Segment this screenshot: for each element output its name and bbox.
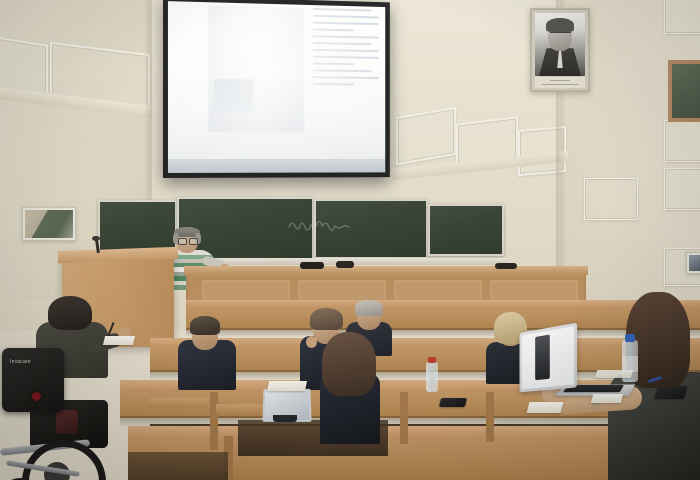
- bench-underside: [128, 452, 228, 480]
- bench-leg: [210, 392, 218, 450]
- portrait-photo: [535, 13, 585, 76]
- wheelchair-control-knob[interactable]: [32, 392, 41, 401]
- microphone-head-icon: [92, 236, 100, 241]
- desk-object: [300, 262, 324, 269]
- smartphone[interactable]: [654, 386, 688, 399]
- student-hair: [310, 308, 343, 330]
- wall-molding-panel: [664, 168, 700, 210]
- laptop[interactable]: [516, 328, 626, 404]
- student-hair: [190, 316, 220, 335]
- laptop-screen: [522, 326, 574, 389]
- notebook-left: [103, 336, 135, 345]
- bench-leg: [486, 392, 494, 442]
- wall-molding-panel: [584, 178, 638, 220]
- bench-seat: [150, 398, 208, 408]
- student-long-hair-center: [318, 332, 382, 442]
- portrait-glasses-icon: [550, 32, 571, 37]
- chalk-writing: [287, 216, 357, 232]
- student-hair: [355, 300, 383, 316]
- water-bottle-cap: [428, 357, 436, 363]
- portrait-caption-plaque: [535, 77, 585, 88]
- notebook-right: [591, 394, 623, 403]
- projector-glow: [168, 1, 385, 173]
- papers: [595, 370, 634, 378]
- wheelchair-brand-label: Invacare: [10, 358, 44, 365]
- water-bottle-cap: [625, 334, 635, 342]
- wall-photo-far-right-image: [689, 255, 700, 271]
- slide: [168, 1, 385, 173]
- wall-molding-panel: [664, 0, 700, 34]
- lecture-hall-photo: Invacare: [0, 0, 700, 480]
- wheelchair-cushion: [56, 410, 78, 434]
- laptop-lid: [519, 323, 577, 393]
- screen-bottom-bar: [168, 159, 385, 173]
- framed-portrait: [530, 8, 590, 92]
- student-hand: [306, 336, 317, 348]
- chalkboard-panel-4: [428, 204, 504, 256]
- wall-photo-left-image: [25, 210, 73, 238]
- student-wheelchair-hair: [48, 296, 92, 330]
- tablet[interactable]: [263, 388, 309, 422]
- bench-leg: [400, 392, 408, 444]
- student-dark-suit-left: [178, 314, 238, 388]
- portrait-hair: [546, 18, 574, 32]
- wall-photo-left: [22, 207, 76, 241]
- student-hair: [322, 332, 376, 396]
- smartphone[interactable]: [439, 398, 467, 407]
- laptop-screen-image: [535, 335, 550, 380]
- wall-molding-panel: [664, 120, 700, 162]
- wall-photo-far-right: [686, 252, 700, 274]
- notebook-front-right: [527, 402, 564, 413]
- tablet-stand: [273, 415, 297, 422]
- wheelchair-backrest: Invacare: [2, 348, 64, 412]
- water-bottle: [426, 362, 438, 392]
- desk-object: [495, 263, 517, 269]
- projection-screen: [163, 0, 390, 178]
- desk-object: [336, 261, 354, 268]
- front-desk-top: [184, 266, 588, 275]
- notebook-center: [267, 381, 307, 391]
- wheelchair: Invacare: [0, 348, 132, 480]
- right-green-board: [668, 60, 700, 122]
- lecturer-glasses-icon: [178, 238, 196, 243]
